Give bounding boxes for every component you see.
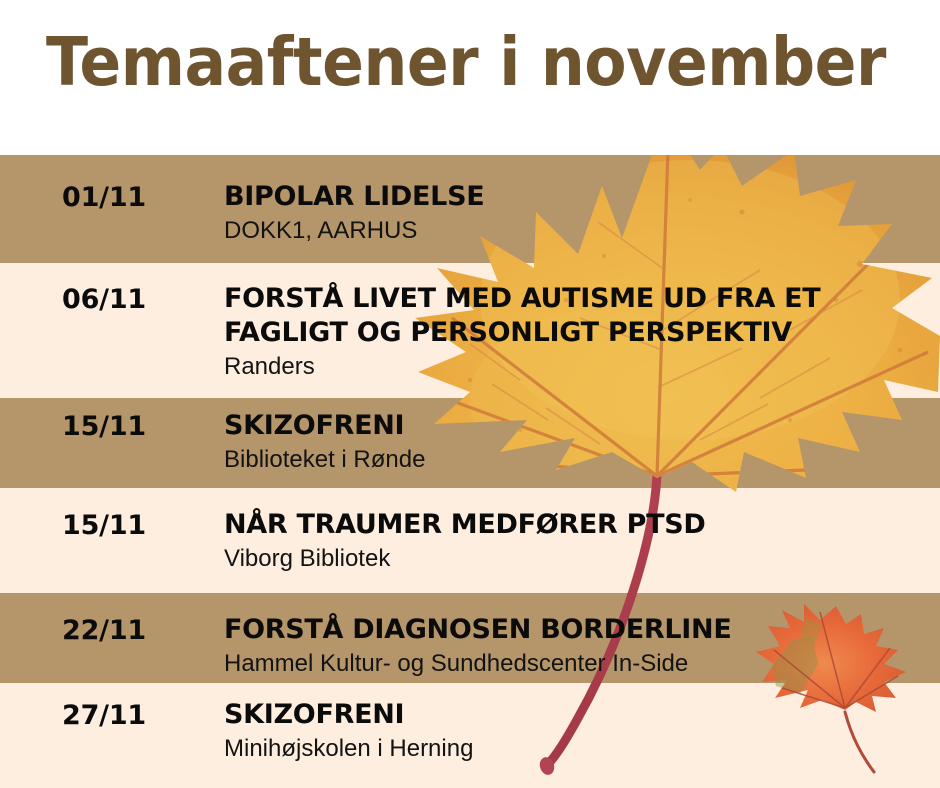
event-venue: Minihøjskolen i Herning bbox=[224, 733, 924, 764]
event-details: SKIZOFRENIBiblioteket i Rønde bbox=[224, 409, 924, 475]
event-date: 15/11 bbox=[62, 510, 146, 541]
poster-canvas: Temaaftener i november 01/11BIPOLAR LIDE… bbox=[0, 0, 940, 788]
event-title: SKIZOFRENI bbox=[224, 698, 924, 732]
event-date: 15/11 bbox=[62, 411, 146, 442]
poster-header: Temaaftener i november bbox=[0, 0, 940, 155]
event-date: 27/11 bbox=[62, 700, 146, 731]
event-venue: Randers bbox=[224, 351, 924, 382]
event-venue: Hammel Kultur- og Sundhedscenter In-Side bbox=[224, 648, 924, 679]
event-details: NÅR TRAUMER MEDFØRER PTSDViborg Bibliote… bbox=[224, 508, 924, 574]
event-title: FORSTÅ LIVET MED AUTISME UD FRA ET FAGLI… bbox=[224, 282, 924, 350]
event-title: BIPOLAR LIDELSE bbox=[224, 180, 924, 214]
event-venue: DOKK1, AARHUS bbox=[224, 215, 924, 246]
event-title: NÅR TRAUMER MEDFØRER PTSD bbox=[224, 508, 924, 542]
event-date: 01/11 bbox=[62, 182, 146, 213]
event-details: FORSTÅ DIAGNOSEN BORDERLINEHammel Kultur… bbox=[224, 613, 924, 679]
event-title: SKIZOFRENI bbox=[224, 409, 924, 443]
page-title: Temaaftener i november bbox=[46, 24, 886, 101]
event-title: FORSTÅ DIAGNOSEN BORDERLINE bbox=[224, 613, 924, 647]
event-details: FORSTÅ LIVET MED AUTISME UD FRA ET FAGLI… bbox=[224, 282, 924, 382]
event-date: 22/11 bbox=[62, 615, 146, 646]
event-date: 06/11 bbox=[62, 284, 146, 315]
event-details: SKIZOFRENIMinihøjskolen i Herning bbox=[224, 698, 924, 764]
event-details: BIPOLAR LIDELSEDOKK1, AARHUS bbox=[224, 180, 924, 246]
event-venue: Viborg Bibliotek bbox=[224, 543, 924, 574]
event-venue: Biblioteket i Rønde bbox=[224, 444, 924, 475]
